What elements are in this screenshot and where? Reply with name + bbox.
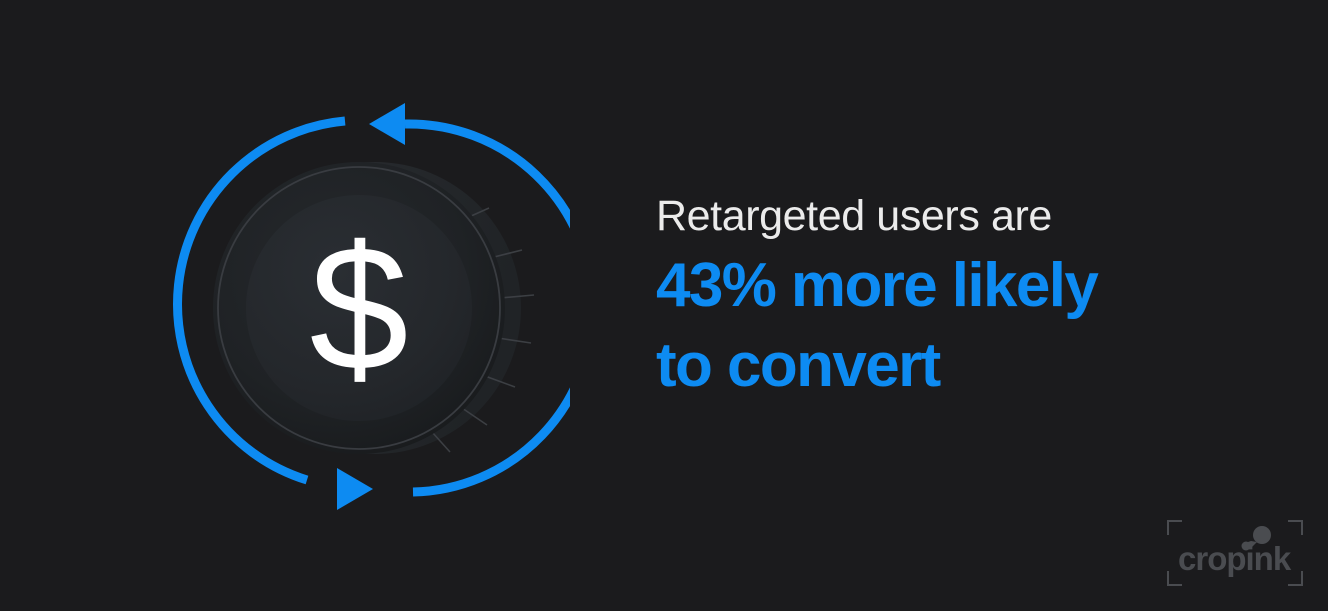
headline-accent-line-1: 43% more likely: [656, 246, 1276, 326]
headline-block: Retargeted users are 43% more likely to …: [656, 186, 1276, 406]
retargeting-coin-illustration: $: [160, 80, 570, 530]
cycle-arrow-bottom: [337, 468, 373, 510]
headline-accent-line-2: to convert: [656, 326, 1276, 406]
logo-wordmark: cropink: [1178, 540, 1292, 577]
infographic-canvas: $ Retargeted users are 43% more likely t…: [0, 0, 1328, 611]
cropink-logo: cropink: [1165, 518, 1305, 588]
headline-lead-line: Retargeted users are: [656, 186, 1276, 246]
dollar-sign-icon: $: [310, 209, 409, 408]
cycle-arrow-top: [369, 103, 405, 145]
